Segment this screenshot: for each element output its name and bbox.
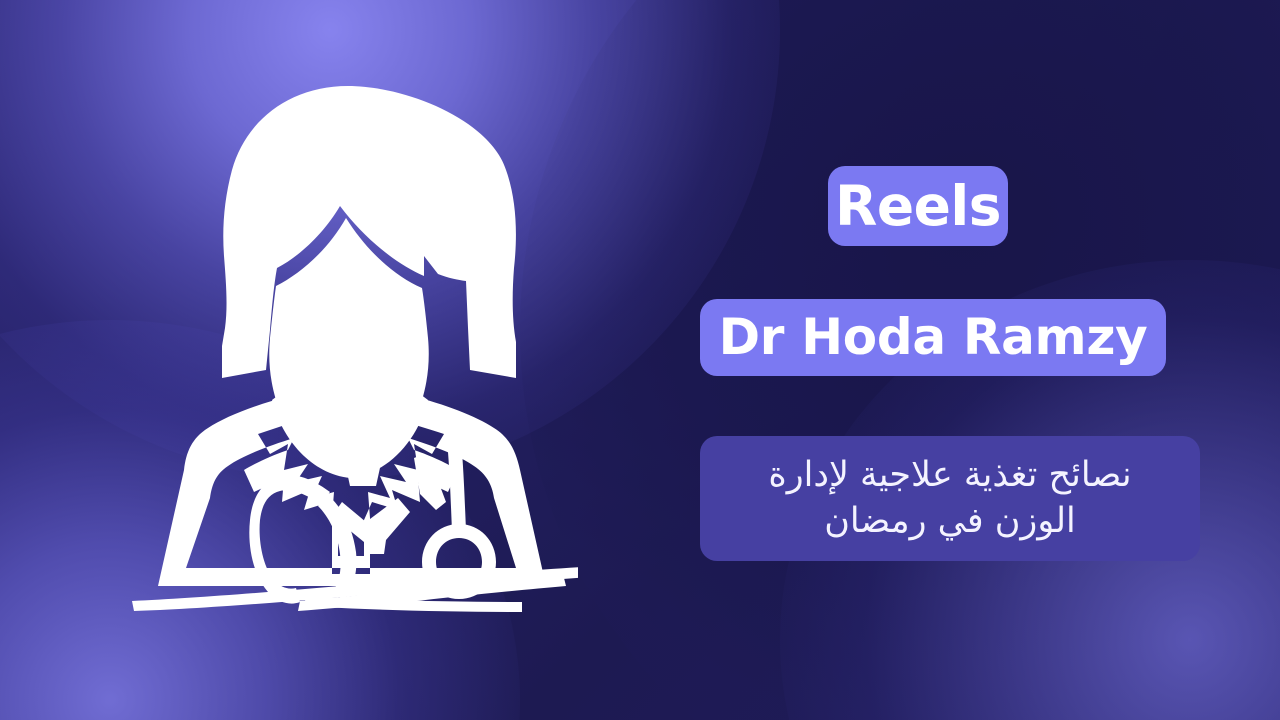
doctor-illustration	[118, 78, 578, 623]
caption-badge[interactable]: نصائح تغذية علاجية لإدارة الوزن في رمضان	[700, 436, 1200, 561]
caption-line-2: الوزن في رمضان	[722, 499, 1178, 545]
reels-thumbnail-canvas: Reels Dr Hoda Ramzy نصائح تغذية علاجية ل…	[0, 0, 1280, 720]
caption-line-1: نصائح تغذية علاجية لإدارة	[722, 453, 1178, 499]
doctor-name-badge[interactable]: Dr Hoda Ramzy	[700, 299, 1166, 376]
reels-badge[interactable]: Reels	[828, 166, 1008, 246]
doctor-silhouette-shape	[132, 86, 578, 612]
